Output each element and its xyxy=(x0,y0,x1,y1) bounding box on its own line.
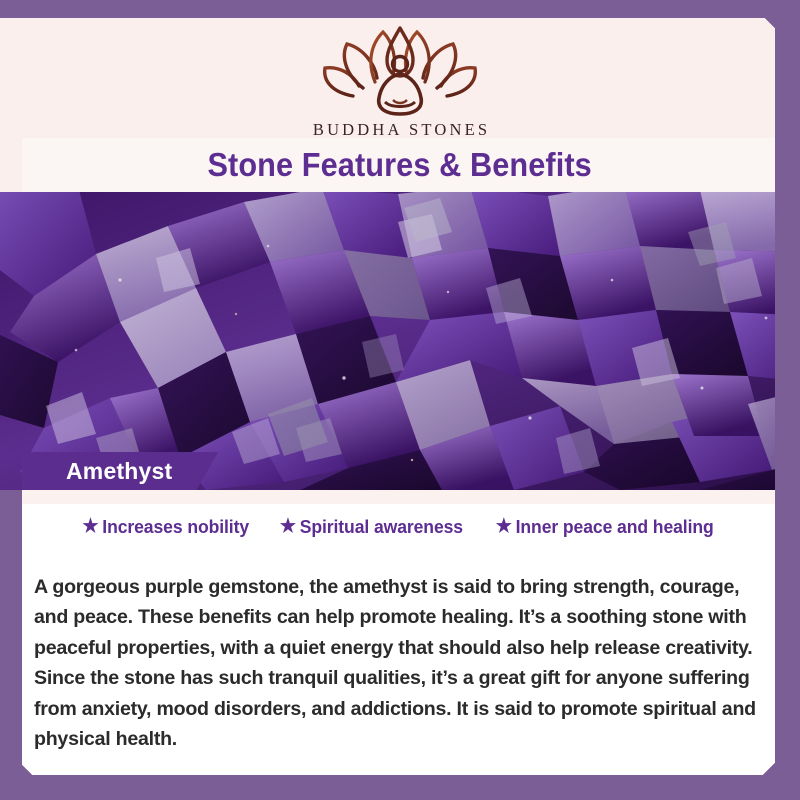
benefits-list: ★ Increases nobility ★ Spiritual awarene… xyxy=(22,516,775,538)
frame-bottom-border xyxy=(0,775,800,800)
benefit-item: ★ Inner peace and healing xyxy=(496,516,714,538)
benefit-label: Spiritual awareness xyxy=(300,516,463,538)
stone-description: A gorgeous purple gemstone, the amethyst… xyxy=(34,572,769,755)
frame-corner-notch-bottom-left xyxy=(22,765,32,775)
panel-tint-strip xyxy=(22,490,775,504)
frame-top-border xyxy=(0,0,800,18)
amethyst-photo xyxy=(0,192,800,490)
title-band: Stone Features & Benefits xyxy=(22,138,778,192)
benefit-label: Increases nobility xyxy=(102,516,249,538)
stone-name-banner: Amethyst xyxy=(22,452,218,490)
frame-left-border xyxy=(0,490,22,800)
frame-corner-notch-top-right xyxy=(765,18,775,28)
star-icon: ★ xyxy=(280,517,296,536)
frame-corner-notch-bottom-right xyxy=(763,763,775,775)
frame-right-border xyxy=(775,0,800,800)
page-title: Stone Features & Benefits xyxy=(208,146,592,184)
content-panel: ★ Increases nobility ★ Spiritual awarene… xyxy=(22,490,775,775)
brand-wordmark: BUDDHA STONES xyxy=(0,120,800,140)
stone-name: Amethyst xyxy=(66,458,172,485)
star-icon: ★ xyxy=(496,517,512,536)
brand-logo: BUDDHA STONES xyxy=(0,22,800,140)
lotus-meditation-figure-icon xyxy=(315,22,485,118)
benefit-item: ★ Spiritual awareness xyxy=(280,516,463,538)
benefit-item: ★ Increases nobility xyxy=(82,516,249,538)
benefit-label: Inner peace and healing xyxy=(516,516,714,538)
infographic-canvas: BUDDHA STONES Stone Features & Benefits … xyxy=(0,0,800,800)
star-icon: ★ xyxy=(82,517,98,536)
